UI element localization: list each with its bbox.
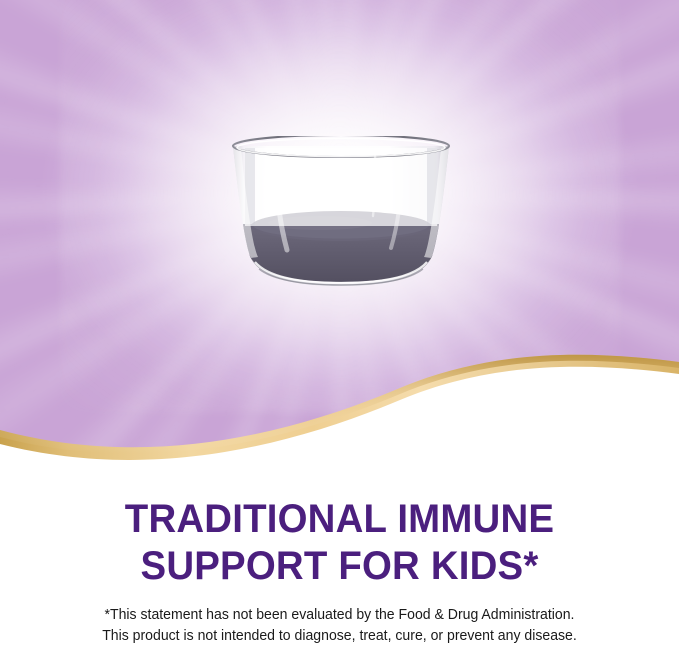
headline: TRADITIONAL IMMUNE SUPPORT FOR KIDS* [14,496,666,590]
disclaimer-line-1: *This statement has not been evaluated b… [10,605,669,626]
lower-panel: TRADITIONAL IMMUNE SUPPORT FOR KIDS* *Th… [0,460,679,657]
gold-swoosh-divider [0,330,679,470]
glass-bowl [225,136,457,288]
fda-disclaimer: *This statement has not been evaluated b… [10,605,669,647]
disclaimer-line-2: This product is not intended to diagnose… [10,626,669,647]
headline-line-1: TRADITIONAL IMMUNE [14,496,666,543]
bowl-glass [225,136,457,288]
headline-line-2: SUPPORT FOR KIDS* [14,543,666,590]
marketing-image: TRADITIONAL IMMUNE SUPPORT FOR KIDS* *Th… [0,0,679,657]
